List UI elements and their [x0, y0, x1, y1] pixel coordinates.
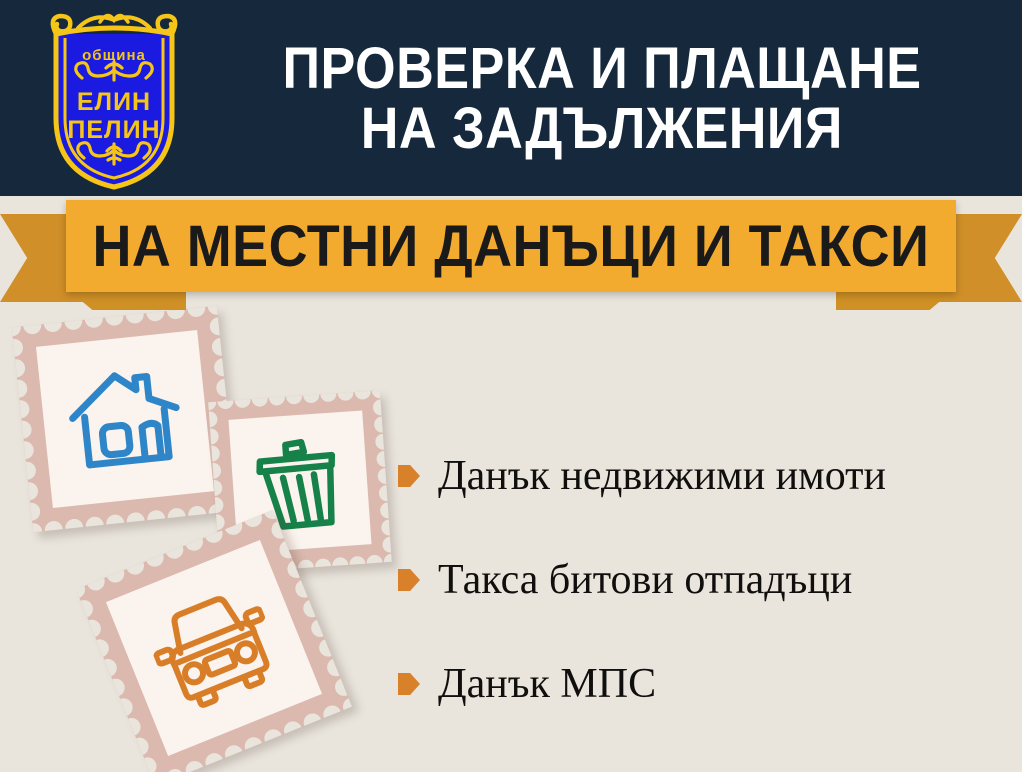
poster-canvas: община ЕЛИН ПЕЛИН	[0, 0, 1022, 772]
list-item-label: Данък недвижими имоти	[438, 455, 886, 497]
poster-title: ПРОВЕРКА И ПЛАЩАНЕ НА ЗАДЪЛЖЕНИЯ	[196, 16, 1008, 182]
list-item[interactable]: Данък недвижими имоти	[398, 424, 1010, 528]
crest-shield-icon: община ЕЛИН ПЕЛИН	[38, 8, 190, 190]
list-item-label: Такса битови отпадъци	[438, 559, 852, 601]
crest-name-line-1: ЕЛИН	[77, 88, 151, 116]
list-item[interactable]: Такса битови отпадъци	[398, 528, 1010, 632]
title-line-1: ПРОВЕРКА И ПЛАЩАНЕ	[282, 39, 921, 99]
bullet-arrow-icon	[398, 673, 420, 695]
header-bar: община ЕЛИН ПЕЛИН	[0, 0, 1022, 196]
tax-type-list: Данък недвижими имоти Такса битови отпад…	[398, 424, 1010, 736]
list-item[interactable]: Данък МПС	[398, 632, 1010, 736]
municipality-crest: община ЕЛИН ПЕЛИН	[38, 8, 190, 190]
car-icon	[140, 578, 288, 719]
bullet-arrow-icon	[398, 569, 420, 591]
ribbon-banner: НА МЕСТНИ ДАНЪЦИ И ТАКСИ	[66, 200, 956, 292]
list-item-label: Данък МПС	[438, 663, 656, 705]
stamp-house-panel	[36, 330, 214, 508]
title-line-2: НА ЗАДЪЛЖЕНИЯ	[361, 99, 843, 159]
ribbon-text: НА МЕСТНИ ДАНЪЦИ И ТАКСИ	[93, 213, 930, 280]
house-icon	[64, 361, 186, 476]
crest-name-line-2: ПЕЛИН	[67, 116, 160, 144]
bullet-arrow-icon	[398, 465, 420, 487]
stamp-house	[12, 306, 238, 532]
subtitle-ribbon: НА МЕСТНИ ДАНЪЦИ И ТАКСИ	[0, 196, 1022, 308]
